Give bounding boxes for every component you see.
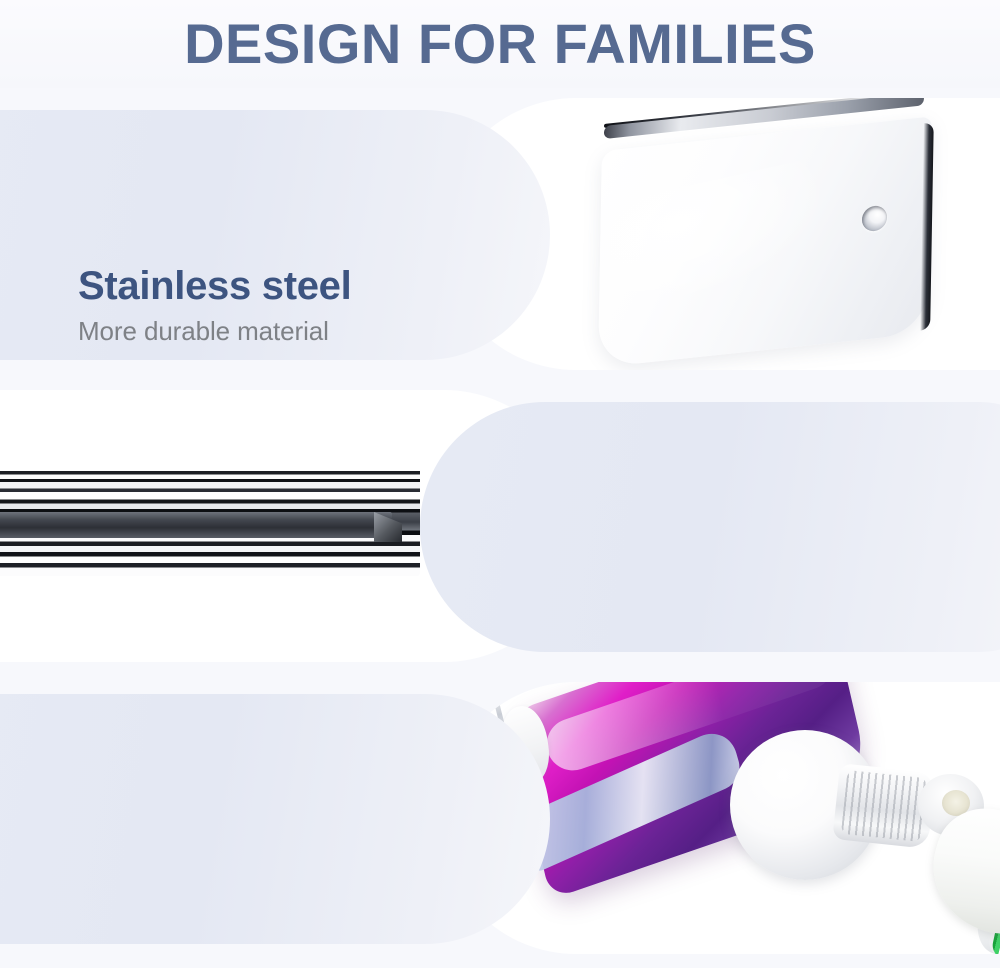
- steel-sheen: [609, 153, 832, 323]
- feature-pill-reduce-waste: [0, 694, 550, 944]
- metal-roller-bar-photo: [0, 468, 450, 588]
- stainless-steel-plate-photo: [600, 120, 1000, 360]
- steel-plate-body: [598, 116, 932, 367]
- toothpaste-tube-squeezing-photo: [480, 682, 1000, 954]
- feature-title: Stainless steel: [78, 264, 351, 309]
- feature-row-reduce-waste: Reduce waste Reasonable utilization: [0, 672, 1000, 968]
- feature-row-stainless-steel: Stainless steel More durable material: [0, 88, 1000, 378]
- page-header: DESIGN FOR FAMILIES: [0, 0, 1000, 88]
- feature-row-roller-design: Roller design More convenient to use: [0, 380, 1000, 670]
- feature-subtitle: More durable material: [78, 315, 351, 349]
- roller-slot-channel: [0, 512, 392, 538]
- page-title: DESIGN FOR FAMILIES: [184, 16, 816, 72]
- feature-text-stainless-steel: Stainless steel More durable material: [78, 264, 351, 349]
- feature-pill-roller-design: [420, 402, 1000, 652]
